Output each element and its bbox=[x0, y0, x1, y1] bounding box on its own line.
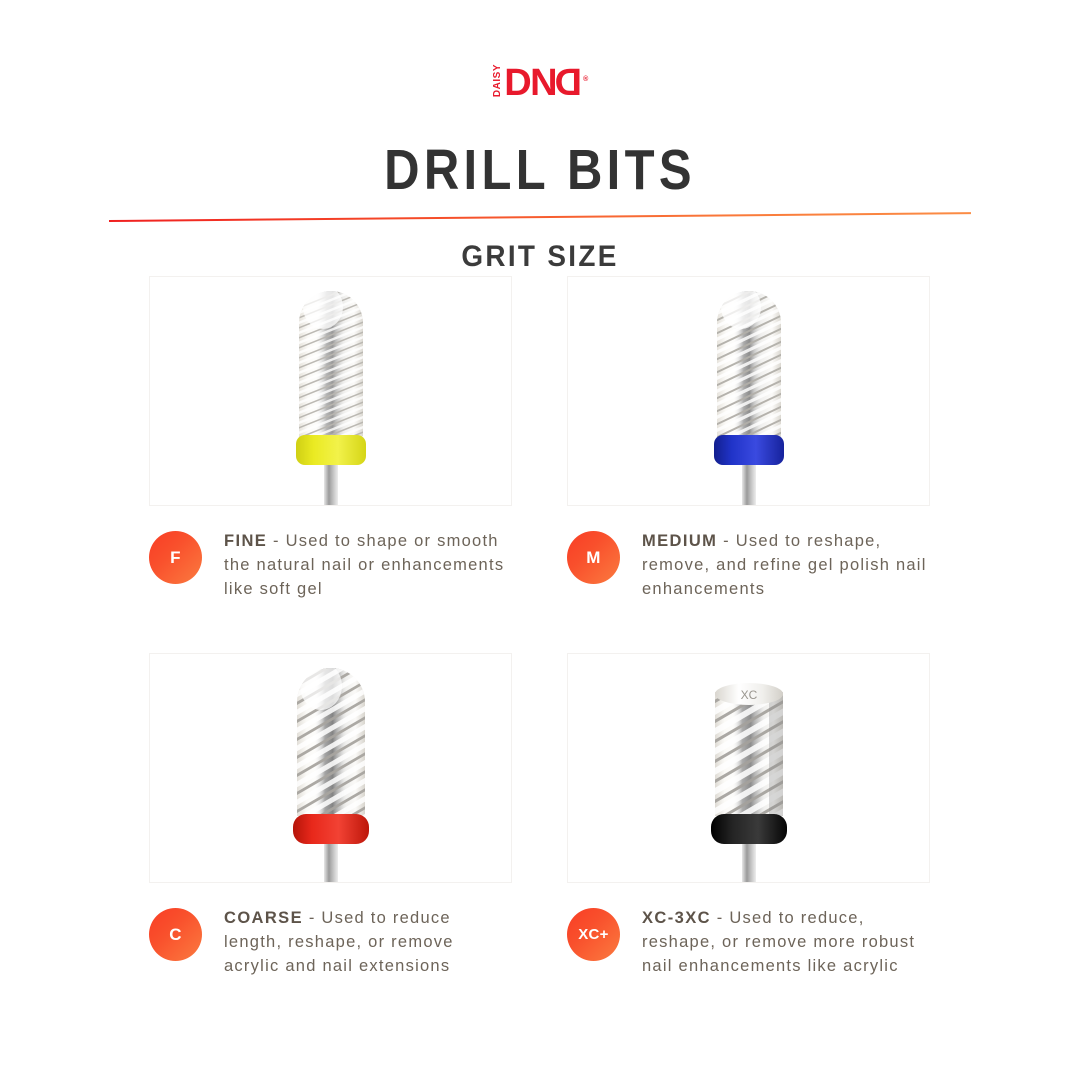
bit-shaft bbox=[324, 844, 338, 882]
medium-drill-bit-photo bbox=[567, 276, 930, 506]
registered-trademark-icon: ® bbox=[583, 76, 587, 83]
fine-drill-bit-icon bbox=[211, 277, 451, 505]
medium-drill-bit-icon bbox=[629, 277, 869, 505]
gradient-divider bbox=[109, 216, 971, 226]
coarse-term: COARSE bbox=[224, 909, 303, 927]
page-subtitle: GRIT SIZE bbox=[38, 242, 1042, 272]
bit-shaft bbox=[742, 842, 756, 882]
gradient-divider-line bbox=[109, 212, 971, 222]
coarse-drill-bit-icon bbox=[211, 654, 451, 882]
logo-dn-text: DN bbox=[504, 62, 556, 104]
medium-term: MEDIUM bbox=[642, 532, 717, 550]
bit-cap-label: XC bbox=[740, 688, 757, 702]
card-coarse: C COARSE - Used to reduce length, reshap… bbox=[149, 653, 514, 978]
yellow-band bbox=[296, 435, 366, 465]
badge-xc: XC+ bbox=[567, 908, 620, 961]
xc-term: XC-3XC bbox=[642, 909, 711, 927]
bit-shaft bbox=[742, 463, 756, 505]
card-medium: M MEDIUM - Used to reshape, remove, and … bbox=[567, 276, 932, 601]
card-xc: XC XC+ XC-3XC - Used to reduce, reshape,… bbox=[567, 653, 932, 978]
fine-term: FINE bbox=[224, 532, 267, 550]
xc-caption: XC+ XC-3XC - Used to reduce, reshape, or… bbox=[567, 906, 932, 978]
badge-fine: F bbox=[149, 531, 202, 584]
xc-drill-bit-icon: XC bbox=[629, 654, 869, 882]
logo-wordmark: DND® bbox=[504, 68, 587, 98]
grid-row-top: F FINE - Used to shape or smooth the nat… bbox=[149, 276, 932, 601]
xc-description: XC-3XC - Used to reduce, reshape, or rem… bbox=[642, 906, 932, 978]
badge-coarse: C bbox=[149, 908, 202, 961]
fine-description-text: - Used to shape or smooth the natural na… bbox=[224, 532, 504, 598]
logo-mirrored-d: D bbox=[556, 68, 582, 98]
coarse-drill-bit-photo bbox=[149, 653, 512, 883]
fine-caption: F FINE - Used to shape or smooth the nat… bbox=[149, 529, 514, 601]
blue-band bbox=[714, 435, 784, 465]
black-band bbox=[711, 814, 787, 844]
coarse-description: COARSE - Used to reduce length, reshape,… bbox=[224, 906, 514, 978]
drill-bit-grid: F FINE - Used to shape or smooth the nat… bbox=[149, 276, 932, 978]
card-fine: F FINE - Used to shape or smooth the nat… bbox=[149, 276, 514, 601]
logo-daisy-text: DAISY bbox=[493, 64, 503, 97]
page-title: DRILL BITS bbox=[76, 142, 1005, 199]
red-band bbox=[293, 814, 369, 844]
page-header: DAISY DND® DRILL BITS GRIT SIZE bbox=[0, 0, 1080, 272]
bit-shaft bbox=[324, 463, 338, 505]
dnd-logo: DAISY DND® bbox=[493, 62, 587, 98]
coarse-caption: C COARSE - Used to reduce length, reshap… bbox=[149, 906, 514, 978]
fine-drill-bit-photo bbox=[149, 276, 512, 506]
fine-description: FINE - Used to shape or smooth the natur… bbox=[224, 529, 514, 601]
badge-medium: M bbox=[567, 531, 620, 584]
medium-caption: M MEDIUM - Used to reshape, remove, and … bbox=[567, 529, 932, 601]
xc-drill-bit-photo: XC bbox=[567, 653, 930, 883]
medium-description: MEDIUM - Used to reshape, remove, and re… bbox=[642, 529, 932, 601]
grid-row-bottom: C COARSE - Used to reduce length, reshap… bbox=[149, 653, 932, 978]
